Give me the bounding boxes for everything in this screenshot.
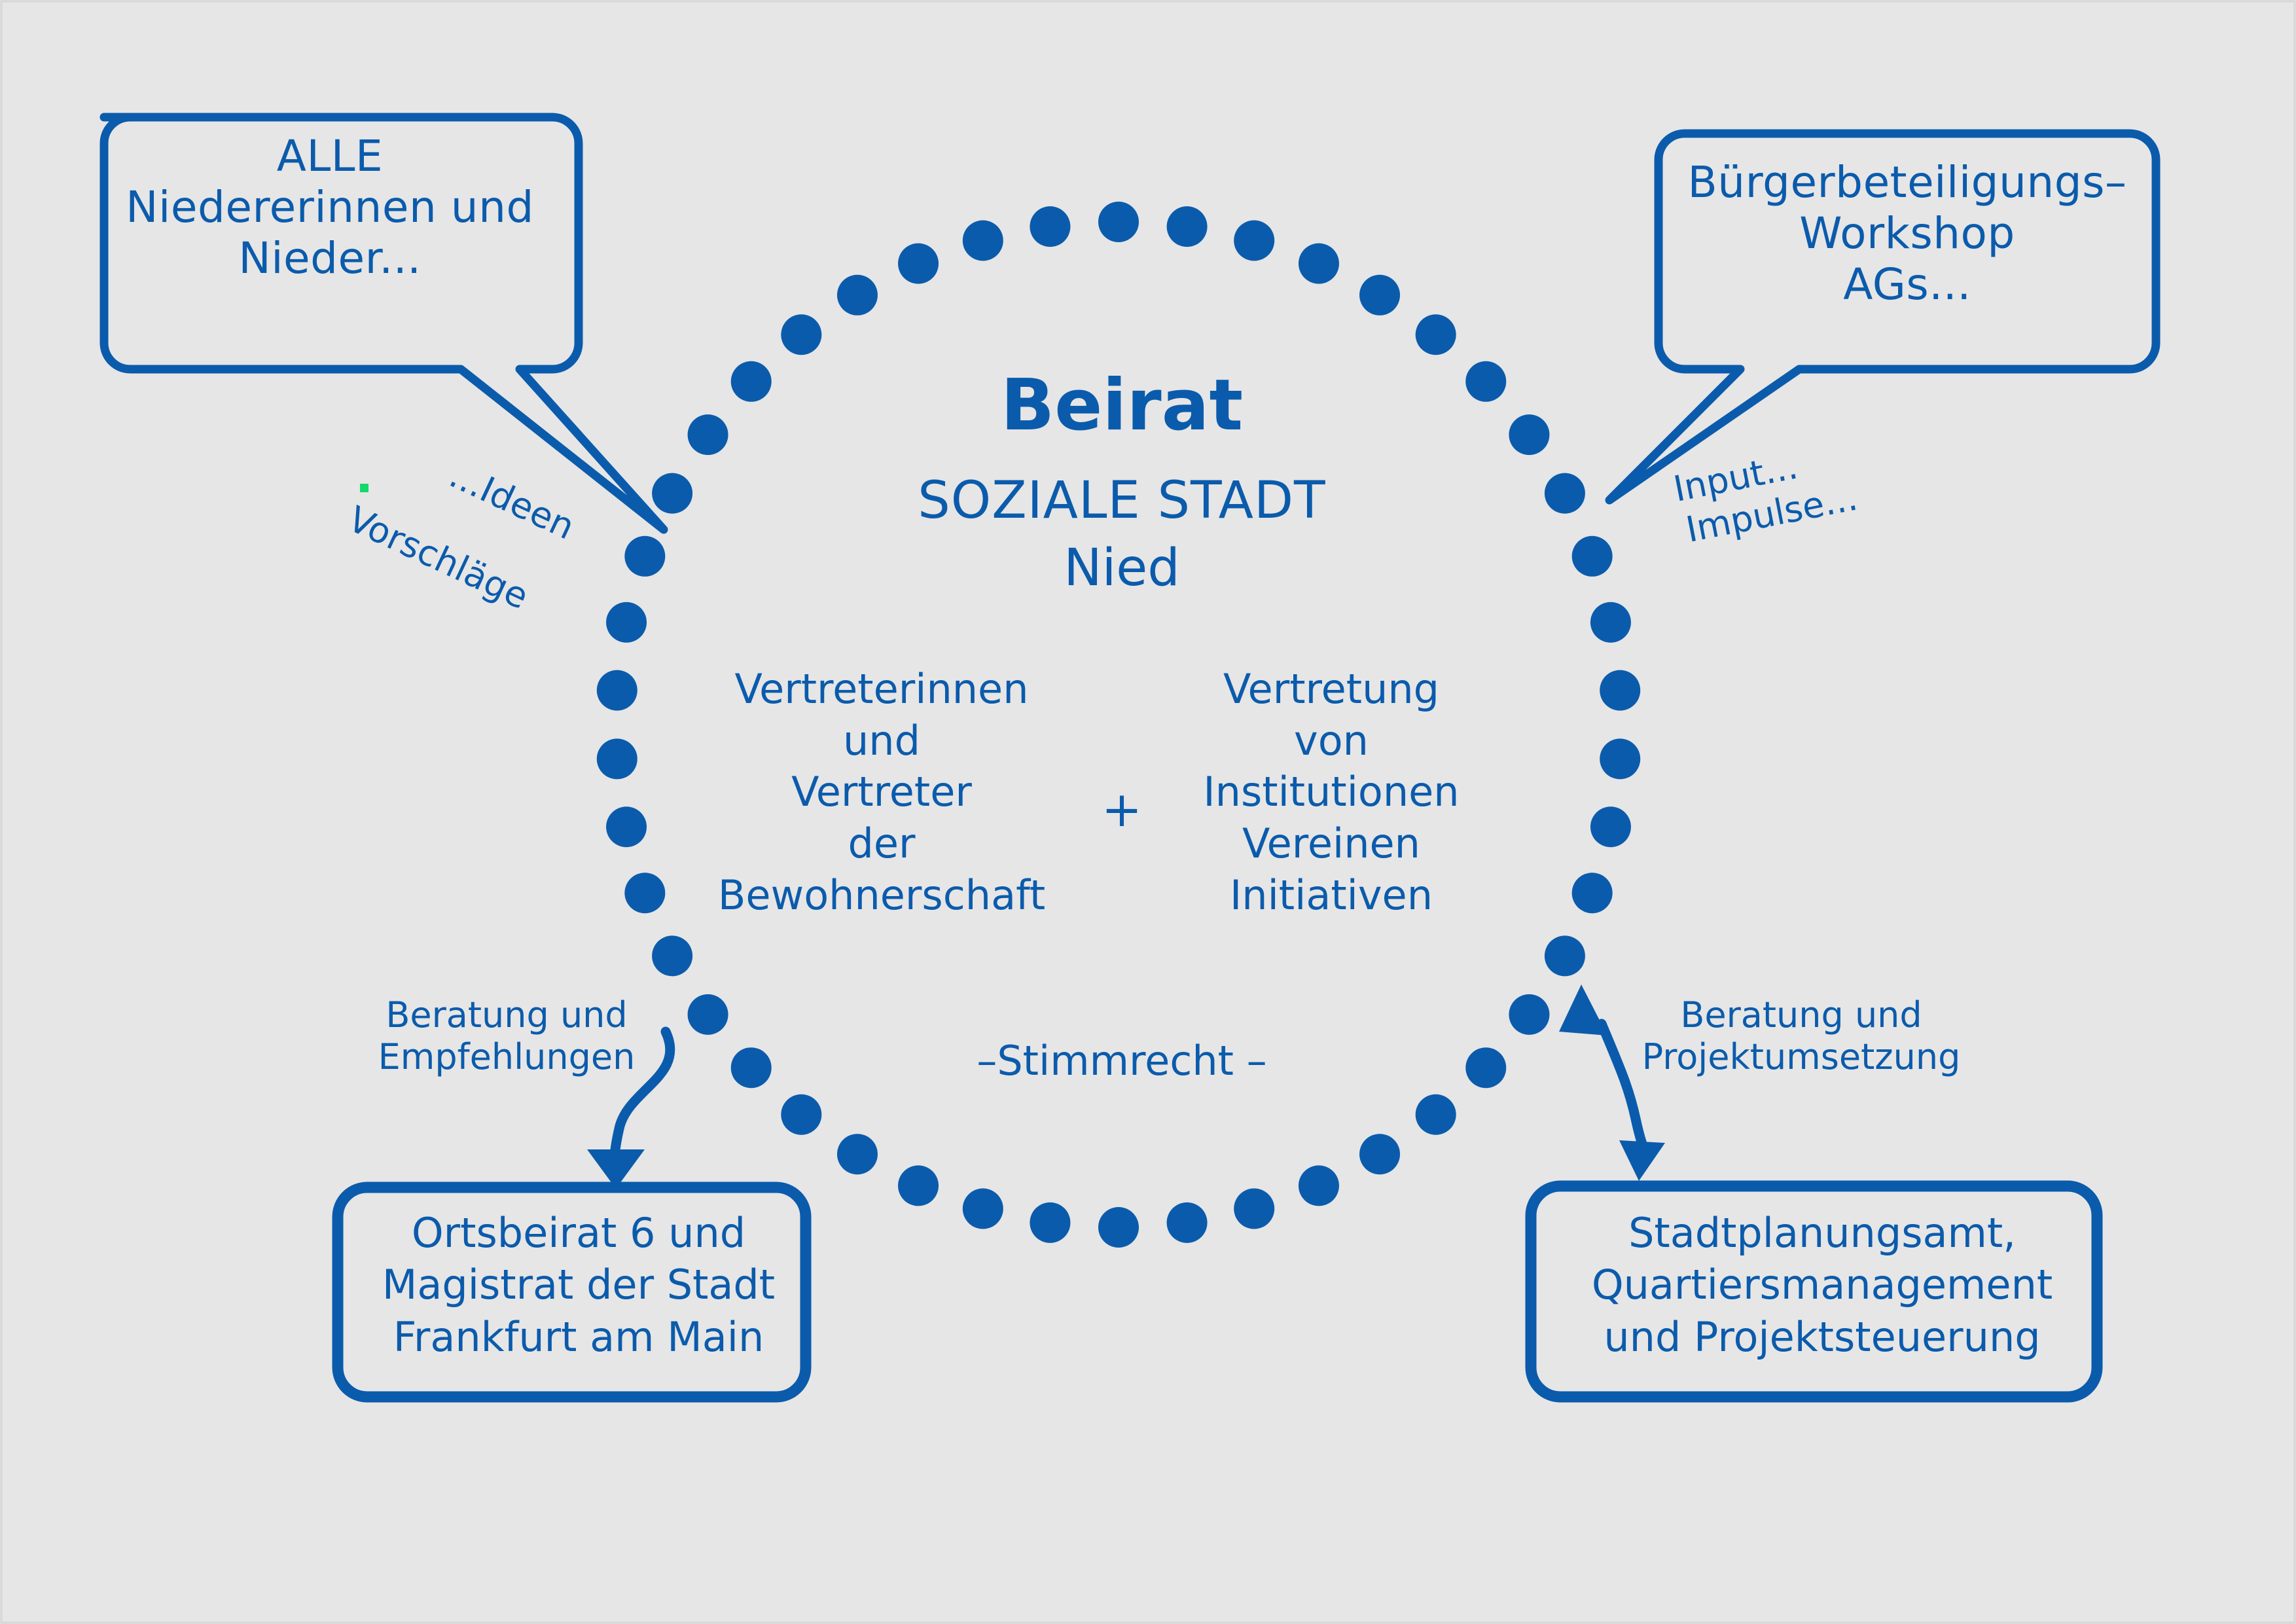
annotation-beratung-projektumsetzung: Beratung und Projektumsetzung — [1638, 994, 1965, 1077]
circle-footer-stimmrecht: –Stimmrecht – — [919, 1037, 1325, 1085]
circle-dot — [1299, 244, 1339, 284]
circle-dot — [1299, 1165, 1339, 1206]
circle-dot — [1465, 1047, 1506, 1088]
circle-dot — [597, 670, 637, 711]
circle-dot — [652, 935, 692, 976]
circle-title: Beirat — [808, 364, 1436, 447]
circle-dot — [1167, 1202, 1208, 1243]
circle-dot — [1030, 206, 1070, 247]
circle-dot — [1359, 275, 1400, 316]
circle-dot — [837, 1134, 878, 1174]
bubble-top-left-label: ALLE Niedererinnen und Nieder... — [94, 131, 565, 284]
circle-dot — [731, 361, 772, 402]
bubble-top-right-label: Bürgerbeteiligungs– Workshop AGs... — [1672, 157, 2143, 310]
circle-dot — [1416, 314, 1456, 355]
circle-right-column: Vertretung von Institutionen Vereinen In… — [1187, 664, 1475, 922]
box-bottom-left-label: Ortsbeirat 6 und Magistrat der Stadt Fra… — [356, 1207, 801, 1363]
circle-dot — [1416, 1094, 1456, 1135]
circle-dot — [1098, 202, 1139, 242]
circle-dot — [1572, 536, 1613, 577]
circle-dot — [898, 244, 939, 284]
circle-dot — [688, 994, 728, 1035]
circle-dot — [1359, 1134, 1400, 1174]
box-bottom-right-label: Stadtplanungsamt, Quartiersmanagement un… — [1560, 1207, 2084, 1363]
diagram-canvas: ALLE Niedererinnen und Nieder... Bürgerb… — [0, 0, 2296, 1624]
circle-dot — [1509, 414, 1549, 455]
circle-dot — [688, 414, 728, 455]
circle-subtitle-line1: SOZIALE STADT — [808, 471, 1436, 531]
circle-subtitle-line2: Nied — [808, 538, 1436, 598]
green-marker-square — [360, 484, 368, 492]
circle-dot — [624, 873, 665, 913]
circle-dot — [781, 1094, 821, 1135]
circle-dot — [1167, 206, 1208, 247]
circle-dot — [1234, 1189, 1274, 1229]
circle-dot — [1234, 220, 1274, 261]
circle-dot — [1590, 602, 1631, 643]
circle-dot — [963, 220, 1003, 261]
annotation-beratung-empfehlungen: Beratung und Empfehlungen — [369, 994, 644, 1077]
circle-dot — [1545, 473, 1585, 514]
circle-dot — [597, 738, 637, 779]
circle-dot — [837, 275, 878, 316]
plus-operator: + — [1076, 782, 1168, 839]
circle-dot — [1465, 361, 1506, 402]
circle-dot — [1600, 738, 1640, 779]
circle-dot — [1572, 873, 1613, 913]
circle-dot — [1600, 670, 1640, 711]
circle-dot — [1030, 1202, 1070, 1243]
circle-dot — [606, 806, 647, 847]
circle-dot — [1590, 806, 1631, 847]
circle-dot — [963, 1189, 1003, 1229]
circle-left-column: Vertreterinnen und Vertreter der Bewohne… — [708, 664, 1055, 922]
circle-dot — [652, 473, 692, 514]
circle-dot — [1509, 994, 1549, 1035]
circle-dot — [898, 1165, 939, 1206]
circle-dot — [606, 602, 647, 643]
circle-dot — [781, 314, 821, 355]
circle-dot — [1098, 1207, 1139, 1248]
circle-dot — [731, 1047, 772, 1088]
circle-dot — [1545, 935, 1585, 976]
